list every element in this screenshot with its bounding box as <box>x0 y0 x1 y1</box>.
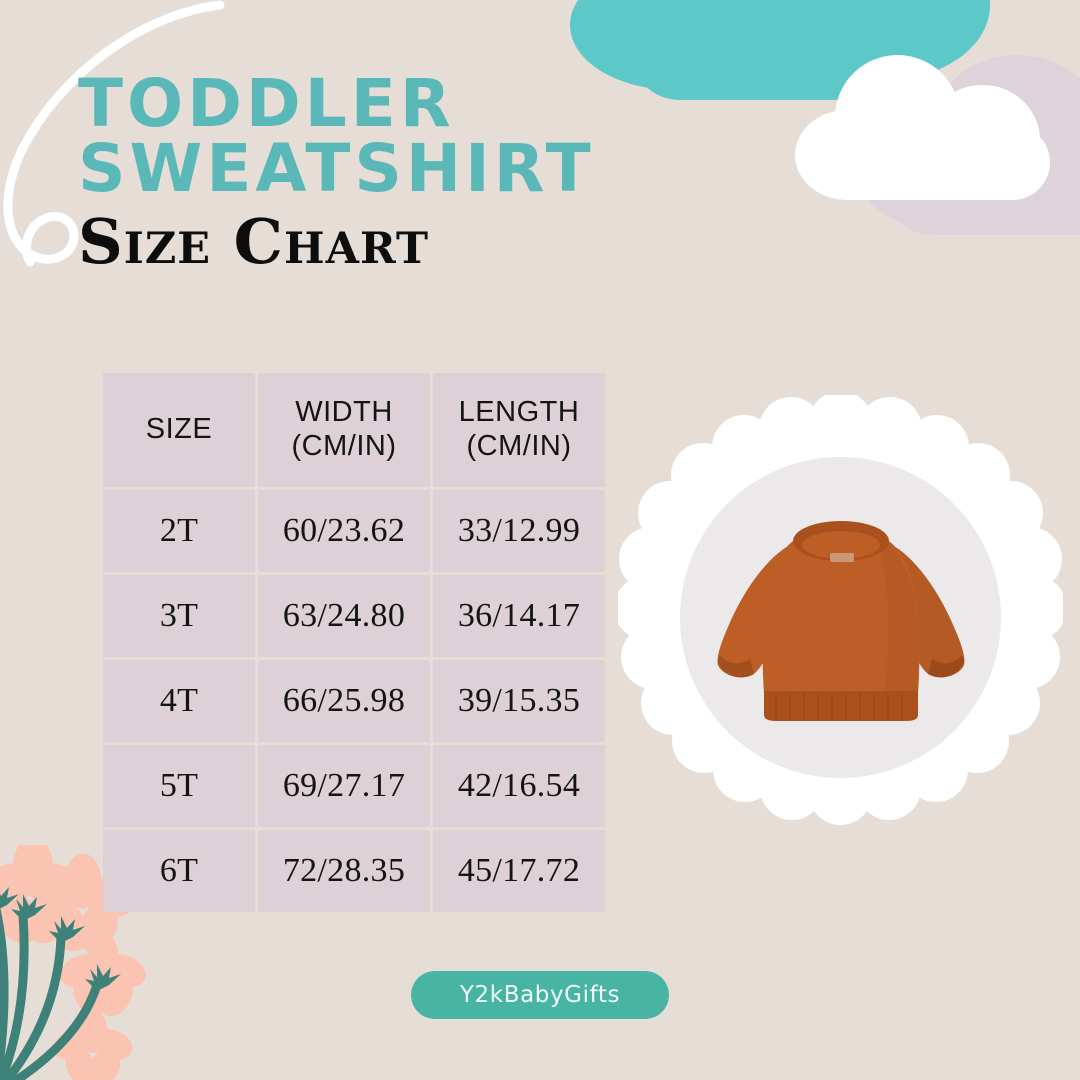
cell-size: 4T <box>103 660 255 742</box>
title-line-2: SWEATSHIRT <box>78 137 718 202</box>
header-sub-width: (CM/IN) <box>258 430 430 464</box>
table-row: 6T 72/28.35 45/17.72 <box>103 830 605 912</box>
column-header-size: SIZE <box>103 373 255 487</box>
sweatshirt-illustration <box>706 509 976 739</box>
cell-width: 63/24.80 <box>258 575 430 657</box>
cell-size: 3T <box>103 575 255 657</box>
table-row: 4T 66/25.98 39/15.35 <box>103 660 605 742</box>
cell-length: 45/17.72 <box>433 830 605 912</box>
header-main-length: LENGTH <box>459 396 580 428</box>
column-header-width: WIDTH (CM/IN) <box>258 373 430 487</box>
cell-width: 69/27.17 <box>258 745 430 827</box>
cell-size: 5T <box>103 745 255 827</box>
cell-length: 39/15.35 <box>433 660 605 742</box>
header-main-size: SIZE <box>146 413 212 445</box>
product-photo-medallion <box>618 395 1063 840</box>
table-row: 2T 60/23.62 33/12.99 <box>103 490 605 572</box>
cell-size: 2T <box>103 490 255 572</box>
shop-name-badge[interactable]: Y2kBabyGifts <box>411 971 669 1019</box>
cell-size: 6T <box>103 830 255 912</box>
cell-width: 60/23.62 <box>258 490 430 572</box>
page-title-block: TODDLER SWEATSHIRT Size Chart <box>78 72 718 273</box>
cell-length: 42/16.54 <box>433 745 605 827</box>
header-main-width: WIDTH <box>295 396 393 428</box>
table-row: 5T 69/27.17 42/16.54 <box>103 745 605 827</box>
product-photo <box>680 457 1001 778</box>
header-sub-length: (CM/IN) <box>433 430 605 464</box>
page-subtitle: Size Chart <box>78 211 718 273</box>
cloud-white-icon <box>795 55 1060 200</box>
column-header-length: LENGTH (CM/IN) <box>433 373 605 487</box>
size-chart-table: SIZE WIDTH (CM/IN) LENGTH (CM/IN) 2T 60/… <box>100 370 608 915</box>
cell-length: 33/12.99 <box>433 490 605 572</box>
cell-width: 72/28.35 <box>258 830 430 912</box>
shop-name-label: Y2kBabyGifts <box>460 982 620 1008</box>
table-row: 3T 63/24.80 36/14.17 <box>103 575 605 657</box>
title-line-1: TODDLER <box>78 72 718 137</box>
table-header-row: SIZE WIDTH (CM/IN) LENGTH (CM/IN) <box>103 373 605 487</box>
size-chart-graphic: TODDLER SWEATSHIRT Size Chart SIZE WIDTH… <box>0 0 1080 1080</box>
cell-width: 66/25.98 <box>258 660 430 742</box>
cell-length: 36/14.17 <box>433 575 605 657</box>
